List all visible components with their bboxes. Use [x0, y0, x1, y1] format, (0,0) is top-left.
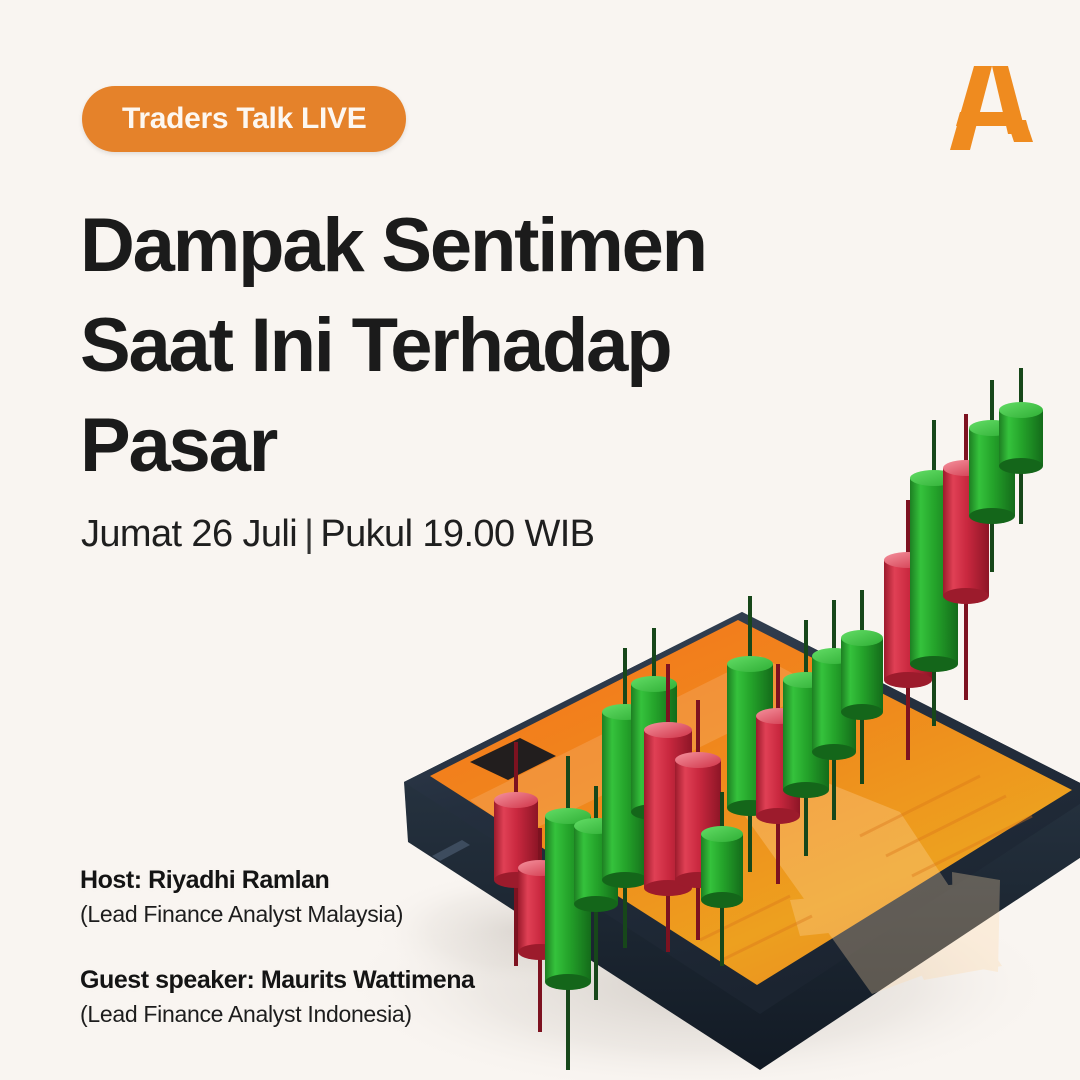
headline-line-3: Pasar: [80, 396, 800, 496]
poster-canvas: Traders Talk LIVE Dampak Sentimen Saat I…: [0, 0, 1080, 1080]
schedule-line: Jumat 26 Juli|Pukul 19.00 WIB: [81, 513, 594, 556]
headline-line-2: Saat Ini Terhadap: [80, 296, 800, 396]
speaker-guest-role: (Lead Finance Analyst Indonesia): [80, 1001, 475, 1028]
smartphone-illustration: [404, 612, 1080, 1070]
live-badge[interactable]: Traders Talk LIVE: [82, 86, 406, 152]
page-title: Dampak Sentimen Saat Ini Terhadap Pasar: [80, 196, 800, 496]
speaker-guest-name: Guest speaker: Maurits Wattimena: [80, 966, 475, 995]
schedule-separator: |: [297, 513, 320, 555]
schedule-time: Pukul 19.00 WIB: [320, 513, 594, 555]
speaker-host-name: Host: Riyadhi Ramlan: [80, 866, 475, 895]
brand-a-logo: [930, 58, 1040, 158]
speaker-guest: Guest speaker: Maurits Wattimena (Lead F…: [80, 966, 475, 1028]
speaker-host: Host: Riyadhi Ramlan (Lead Finance Analy…: [80, 866, 475, 928]
headline-line-1: Dampak Sentimen: [80, 196, 800, 296]
schedule-date: Jumat 26 Juli: [81, 513, 297, 555]
speaker-host-role: (Lead Finance Analyst Malaysia): [80, 901, 475, 928]
live-badge-label: Traders Talk LIVE: [122, 102, 366, 136]
speaker-list: Host: Riyadhi Ramlan (Lead Finance Analy…: [80, 866, 475, 1028]
